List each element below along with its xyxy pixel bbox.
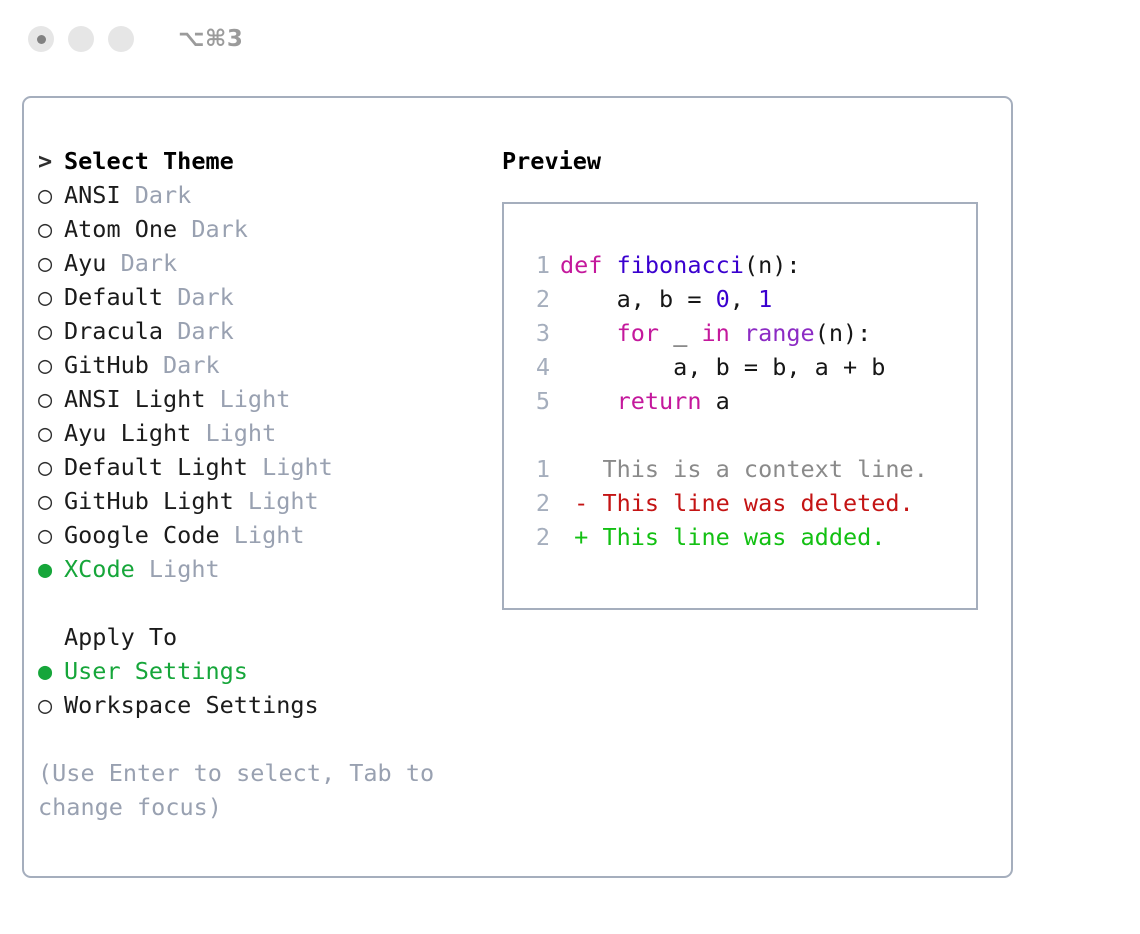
radio-unselected-icon[interactable]: ○ — [38, 348, 64, 382]
radio-unselected-icon[interactable]: ○ — [38, 484, 64, 518]
diff-line: 2 + This line was added. — [522, 520, 976, 554]
apply-to-option-label: User Settings — [64, 657, 248, 685]
theme-option-row[interactable]: ○Default Dark — [38, 280, 508, 314]
radio-unselected-icon[interactable]: ○ — [38, 246, 64, 280]
code-token: return — [617, 387, 702, 415]
keyboard-hint-text: (Use Enter to select, Tab to change focu… — [38, 756, 448, 824]
diff-line-text: + This line was added. — [560, 523, 885, 551]
theme-option-row[interactable]: ○Google Code Light — [38, 518, 508, 552]
keyboard-shortcut-label: ⌥⌘3 — [178, 26, 243, 52]
code-token: 1 — [758, 285, 772, 313]
line-number: 2 — [522, 486, 550, 520]
apply-to-option-label: Workspace Settings — [64, 691, 319, 719]
code-token: (n): — [744, 251, 801, 279]
preview-column: Preview 1def fibonacci(n):2 a, b = 0, 13… — [502, 144, 1002, 610]
radio-selected-icon[interactable]: ● — [38, 654, 64, 688]
theme-variant-tag: Dark — [106, 249, 177, 277]
theme-option-row[interactable]: ○Ayu Dark — [38, 246, 508, 280]
radio-unselected-icon[interactable]: ○ — [38, 280, 64, 314]
theme-option-label: ANSI — [64, 181, 121, 209]
theme-option-label: Ayu — [64, 249, 106, 277]
theme-variant-tag: Dark — [121, 181, 192, 209]
radio-unselected-icon[interactable]: ○ — [38, 382, 64, 416]
theme-variant-tag: Dark — [163, 283, 234, 311]
traffic-light-record-dot[interactable] — [28, 26, 54, 52]
code-token: _ — [659, 319, 701, 347]
theme-option-label: Default — [64, 283, 163, 311]
theme-variant-tag: Dark — [163, 317, 234, 345]
theme-option-row[interactable]: ○ANSI Light Light — [38, 382, 508, 416]
radio-unselected-icon[interactable]: ○ — [38, 416, 64, 450]
diff-line: 2 - This line was deleted. — [522, 486, 976, 520]
select-theme-heading: >Select Theme — [38, 144, 508, 178]
diff-line-text: This is a context line. — [560, 455, 928, 483]
theme-variant-tag: Dark — [149, 351, 220, 379]
code-line: 4 a, b = b, a + b — [522, 350, 976, 384]
theme-option-label: GitHub — [64, 351, 149, 379]
theme-options-list: ○ANSI Dark○Atom One Dark○Ayu Dark○Defaul… — [38, 178, 508, 586]
code-token: for — [617, 319, 659, 347]
radio-unselected-icon[interactable]: ○ — [38, 212, 64, 246]
theme-option-row[interactable]: ○GitHub Dark — [38, 348, 508, 382]
radio-unselected-icon[interactable]: ○ — [38, 314, 64, 348]
line-number: 2 — [522, 282, 550, 316]
line-number: 2 — [522, 520, 550, 554]
theme-variant-tag: Dark — [177, 215, 248, 243]
traffic-light-dot-2[interactable] — [68, 26, 94, 52]
diff-line: 1 This is a context line. — [522, 452, 976, 486]
code-token: in — [702, 319, 730, 347]
code-token: , — [730, 285, 758, 313]
code-token: 0 — [716, 285, 730, 313]
theme-option-label: Atom One — [64, 215, 177, 243]
diff-sample: 1 This is a context line.2 - This line w… — [522, 452, 976, 554]
theme-variant-tag: Light — [135, 555, 220, 583]
theme-option-label: Dracula — [64, 317, 163, 345]
theme-option-label: Ayu Light — [64, 419, 191, 447]
preview-heading: Preview — [502, 144, 1002, 178]
line-number: 4 — [522, 350, 550, 384]
theme-option-row[interactable]: ○Atom One Dark — [38, 212, 508, 246]
apply-to-option-row[interactable]: ○Workspace Settings — [38, 688, 508, 722]
apply-to-option-row[interactable]: ●User Settings — [38, 654, 508, 688]
theme-variant-tag: Light — [205, 385, 290, 413]
radio-unselected-icon[interactable]: ○ — [38, 518, 64, 552]
theme-option-label: Google Code — [64, 521, 220, 549]
theme-option-label: XCode — [64, 555, 135, 583]
title-bar: ⌥⌘3 — [0, 0, 1140, 78]
theme-option-row[interactable]: ○Ayu Light Light — [38, 416, 508, 450]
line-number: 1 — [522, 452, 550, 486]
code-token: fibonacci — [617, 251, 744, 279]
code-line: 1def fibonacci(n): — [522, 248, 976, 282]
code-token: def — [560, 251, 617, 279]
code-token — [730, 319, 744, 347]
traffic-light-dot-3[interactable] — [108, 26, 134, 52]
theme-option-row[interactable]: ○Default Light Light — [38, 450, 508, 484]
spacer-after-themes — [38, 586, 508, 620]
page-title: Select Theme — [64, 147, 234, 175]
apply-to-indent — [38, 620, 64, 654]
apply-to-heading: Apply To — [38, 620, 508, 654]
code-line: 3 for _ in range(n): — [522, 316, 976, 350]
code-token: a, b = — [560, 285, 716, 313]
theme-variant-tag: Light — [220, 521, 305, 549]
code-token: a — [701, 387, 729, 415]
theme-selector-card: >Select Theme ○ANSI Dark○Atom One Dark○A… — [22, 96, 1013, 878]
theme-variant-tag: Light — [234, 487, 319, 515]
theme-option-row[interactable]: ●XCode Light — [38, 552, 508, 586]
theme-option-label: ANSI Light — [64, 385, 205, 413]
line-number: 1 — [522, 248, 550, 282]
code-diff-separator — [522, 418, 976, 452]
code-sample: 1def fibonacci(n):2 a, b = 0, 13 for _ i… — [522, 248, 976, 418]
preview-panel: 1def fibonacci(n):2 a, b = 0, 13 for _ i… — [502, 202, 978, 610]
radio-unselected-icon[interactable]: ○ — [38, 178, 64, 212]
theme-variant-tag: Light — [191, 419, 276, 447]
radio-unselected-icon[interactable]: ○ — [38, 450, 64, 484]
prompt-marker: > — [38, 144, 64, 178]
apply-to-label: Apply To — [64, 623, 177, 651]
terminal-window: ⌥⌘3 >Select Theme ○ANSI Dark○Atom One Da… — [0, 0, 1140, 934]
code-line: 5 return a — [522, 384, 976, 418]
theme-list-column: >Select Theme ○ANSI Dark○Atom One Dark○A… — [38, 144, 508, 824]
code-token — [560, 387, 617, 415]
theme-option-row[interactable]: ○GitHub Light Light — [38, 484, 508, 518]
code-token: a, b = b, a + b — [560, 353, 885, 381]
theme-option-row[interactable]: ○Dracula Dark — [38, 314, 508, 348]
theme-option-label: GitHub Light — [64, 487, 234, 515]
diff-line-text: - This line was deleted. — [560, 489, 914, 517]
line-number: 3 — [522, 316, 550, 350]
line-number: 5 — [522, 384, 550, 418]
code-token — [560, 319, 617, 347]
code-token: range — [744, 319, 815, 347]
radio-unselected-icon[interactable]: ○ — [38, 688, 64, 722]
apply-to-options-list: ●User Settings○Workspace Settings — [38, 654, 508, 722]
theme-variant-tag: Light — [248, 453, 333, 481]
theme-option-label: Default Light — [64, 453, 248, 481]
code-token: (n): — [815, 319, 872, 347]
code-line: 2 a, b = 0, 1 — [522, 282, 976, 316]
radio-selected-icon[interactable]: ● — [38, 552, 64, 586]
theme-option-row[interactable]: ○ANSI Dark — [38, 178, 508, 212]
spacer-after-apply-to — [38, 722, 508, 756]
